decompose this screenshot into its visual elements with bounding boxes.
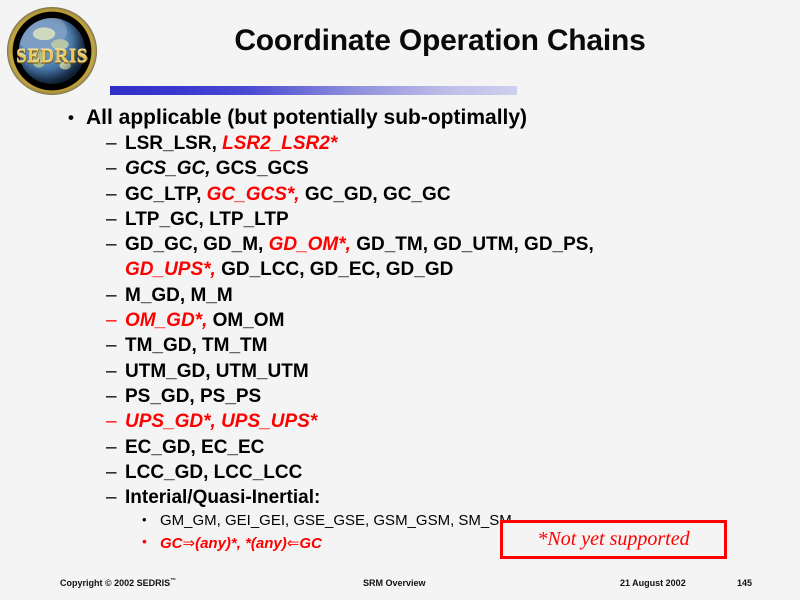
list-item-ltp: –LTP_GC, LTP_LTP — [106, 207, 800, 232]
tm-plain: TM_GD, TM_TM — [125, 335, 268, 356]
dash-glyph: – — [106, 435, 117, 460]
slide-title: Coordinate Operation Chains — [110, 24, 770, 58]
bullet-glyph: • — [68, 104, 74, 131]
list-item-lcc: –LCC_GD, LCC_LCC — [106, 460, 800, 485]
logo-trademark: ™ — [82, 57, 88, 63]
om-red: OM_GD*, — [125, 310, 207, 331]
footer-page-number: 145 — [737, 578, 752, 588]
list-item-tm: –TM_GD, TM_TM — [106, 333, 800, 358]
list-item-utm: –UTM_GD, UTM_UTM — [106, 359, 800, 384]
gc-plain1: GC_LTP, — [125, 184, 207, 205]
ups-red: UPS_GD*, UPS_UPS* — [125, 411, 317, 432]
list-item-lsr: –LSR_LSR, LSR2_LSR2* — [106, 131, 800, 156]
gd-red2: GD_UPS*, — [125, 259, 216, 280]
double-left-arrow-icon: ⇐ — [287, 534, 300, 552]
gcs-italic: GCS_GC, — [125, 158, 211, 179]
list-item-gcs: –GCS_GC, GCS_GCS — [106, 156, 800, 181]
double-right-arrow-icon: ⇒ — [183, 534, 196, 552]
dash-glyph: – — [106, 182, 117, 207]
gd-plain1: GD_GC, GD_M, — [125, 234, 269, 255]
gd-plain2: GD_TM, GD_UTM, GD_PS, — [351, 234, 594, 255]
ec-plain: EC_GD, EC_EC — [125, 437, 264, 458]
m-plain: M_GD, M_M — [125, 285, 233, 306]
list-item-inertial-header: –Interial/Quasi-Inertial: — [106, 485, 800, 510]
list-item-gd: –GD_GC, GD_M, GD_OM*, GD_TM, GD_UTM, GD_… — [106, 232, 800, 283]
gcs-plain: GCS_GCS — [211, 158, 309, 179]
lsr-red: LSR2_LSR2* — [222, 133, 337, 154]
gc-any-part1: GC — [160, 535, 183, 552]
slide-body: •All applicable (but potentially sub-opt… — [0, 104, 800, 555]
callout-text: *Not yet supported — [537, 528, 689, 551]
dash-glyph: – — [106, 359, 117, 384]
list-item-m: –M_GD, M_M — [106, 283, 800, 308]
footer-trademark: ™ — [170, 578, 176, 584]
gc-plain2: GC_GD, GC_GC — [300, 184, 451, 205]
list-item-ps: –PS_GD, PS_PS — [106, 384, 800, 409]
not-yet-supported-callout: *Not yet supported — [500, 520, 727, 559]
dash-glyph: – — [106, 207, 117, 232]
footer-copyright-text: Copyright © 2002 SEDRIS — [60, 578, 170, 588]
ps-plain: PS_GD, PS_PS — [125, 386, 261, 407]
dash-glyph: – — [106, 333, 117, 358]
dot-glyph: • — [142, 531, 147, 553]
inertial-codes-text: GM_GM, GEI_GEI, GSE_GSE, GSM_GSM, SM_SM — [160, 512, 512, 529]
dash-glyph: – — [106, 156, 117, 181]
slide-footer: Copyright © 2002 SEDRIS™ SRM Overview 21… — [0, 578, 800, 592]
dash-glyph: – — [106, 131, 117, 156]
ltp-plain: LTP_GC, LTP_LTP — [125, 209, 289, 230]
list-item-ups: –UPS_GD*, UPS_UPS* — [106, 409, 800, 434]
lcc-plain: LCC_GD, LCC_LCC — [125, 462, 302, 483]
dash-glyph: – — [106, 460, 117, 485]
dash-glyph: – — [106, 409, 117, 434]
gd-plain3: GD_LCC, GD_EC, GD_GD — [216, 259, 454, 280]
list-item-ec: –EC_GD, EC_EC — [106, 435, 800, 460]
footer-deck-name: SRM Overview — [363, 578, 426, 588]
bullet-headline: •All applicable (but potentially sub-opt… — [68, 104, 800, 131]
dash-glyph: – — [106, 283, 117, 308]
dot-glyph: • — [142, 509, 147, 531]
footer-date: 21 August 2002 — [620, 578, 686, 588]
gc-any-part2: (any)*, *(any) — [195, 535, 287, 552]
dash-glyph: – — [106, 232, 117, 257]
dash-glyph: – — [106, 308, 117, 333]
slide-canvas: SEDRIS ™ Coordinate Operation Chains •Al… — [0, 0, 800, 600]
headline-text: All applicable (but potentially sub-opti… — [86, 106, 527, 129]
dash-glyph: – — [106, 384, 117, 409]
gc-any-part3: GC — [299, 535, 322, 552]
lsr-plain: LSR_LSR, — [125, 133, 222, 154]
footer-copyright: Copyright © 2002 SEDRIS™ — [60, 578, 176, 588]
gd-red1: GD_OM*, — [269, 234, 351, 255]
title-gradient-rule — [110, 86, 517, 95]
list-item-om: –OM_GD*, OM_OM — [106, 308, 800, 333]
gc-red: GC_GCS*, — [207, 184, 300, 205]
dash-glyph: – — [106, 485, 117, 510]
sedris-logo: SEDRIS ™ — [7, 7, 97, 95]
om-plain: OM_OM — [207, 310, 284, 331]
utm-plain: UTM_GD, UTM_UTM — [125, 361, 309, 382]
list-item-gc: –GC_LTP, GC_GCS*, GC_GD, GC_GC — [106, 182, 800, 207]
inertial-header-text: Interial/Quasi-Inertial: — [125, 487, 320, 508]
